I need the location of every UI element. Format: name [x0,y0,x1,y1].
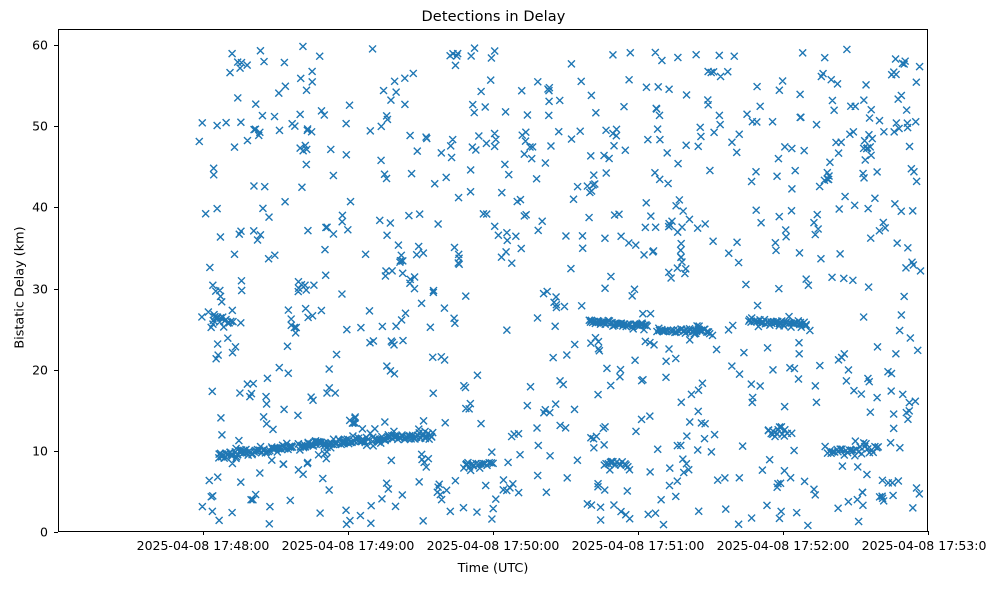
x-tick-mark [928,531,929,535]
x-tick-label: 2025-04-08 17:51:00 [572,538,705,553]
x-tick-label: 2025-04-08 17:52:00 [717,538,850,553]
y-tick-label: 30 [32,281,48,296]
scatter-markers [59,30,927,531]
y-tick-label: 40 [32,200,48,215]
x-tick-label: 2025-04-08 17:48:00 [137,538,270,553]
y-tick-label: 60 [32,38,48,53]
y-tick-label: 20 [32,362,48,377]
x-tick-label: 2025-04-08 17:53:00 [862,538,987,553]
y-tick-mark [54,532,58,533]
x-axis-label: Time (UTC) [58,561,928,576]
scatter-plot-area [58,29,928,532]
y-tick-label: 10 [32,443,48,458]
y-tick-label: 50 [32,119,48,134]
x-tick-label: 2025-04-08 17:49:00 [282,538,415,553]
y-tick-label: 0 [40,525,48,540]
x-tick-label: 2025-04-08 17:50:00 [427,538,560,553]
y-axis-label: Bistatic Delay (km) [13,188,28,388]
marker-group [196,43,924,529]
page-title: Detections in Delay [0,9,987,25]
matplotlib-figure: Detections in Delay 0102030405060 2025-0… [0,0,987,590]
scatter-marker-path [196,43,924,529]
